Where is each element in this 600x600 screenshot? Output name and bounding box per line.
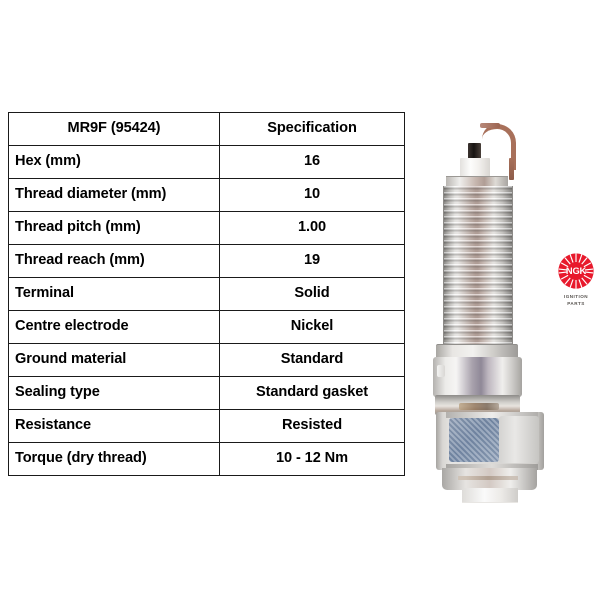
spec-value-thread-reach: 19 <box>220 245 405 278</box>
spec-value-terminal: Solid <box>220 278 405 311</box>
spark-plug-image <box>424 118 554 438</box>
specification-table: MR9F (95424) Specification Hex (mm) 16 T… <box>8 112 405 476</box>
spec-label-sealing-type: Sealing type <box>9 377 220 410</box>
hex-face-left-icon <box>449 418 499 462</box>
ngk-sunburst-logo-icon: NGK <box>558 253 594 289</box>
hex-face-right-icon <box>499 416 539 463</box>
spec-value-centre-electrode: Nickel <box>220 311 405 344</box>
spec-label-torque: Torque (dry thread) <box>9 443 220 476</box>
spec-label-thread-reach: Thread reach (mm) <box>9 245 220 278</box>
spec-label-terminal: Terminal <box>9 278 220 311</box>
spec-label-thread-pitch: Thread pitch (mm) <box>9 212 220 245</box>
svg-text:NGK: NGK <box>566 266 587 276</box>
table-row: Resistance Resisted <box>9 410 405 443</box>
spec-value-thread-diameter: 10 <box>220 179 405 212</box>
spec-table-container: MR9F (95424) Specification Hex (mm) 16 T… <box>8 112 404 476</box>
specification-header: Specification <box>220 113 405 146</box>
table-row: Torque (dry thread) 10 - 12 Nm <box>9 443 405 476</box>
threaded-shell-icon <box>443 186 513 346</box>
spec-label-hex: Hex (mm) <box>9 146 220 179</box>
part-code-header: MR9F (95424) <box>9 113 220 146</box>
shell-barrel-icon <box>433 357 522 397</box>
spec-label-resistance: Resistance <box>9 410 220 443</box>
ceramic-insulator-nose-icon <box>460 158 490 178</box>
spec-label-ground-material: Ground material <box>9 344 220 377</box>
table-header-row: MR9F (95424) Specification <box>9 113 405 146</box>
table-row: Hex (mm) 16 <box>9 146 405 179</box>
hex-nut-icon <box>436 412 544 470</box>
table-row: Thread reach (mm) 19 <box>9 245 405 278</box>
table-row: Centre electrode Nickel <box>9 311 405 344</box>
spec-value-hex: 16 <box>220 146 405 179</box>
table-row: Ground material Standard <box>9 344 405 377</box>
spec-value-sealing-type: Standard gasket <box>220 377 405 410</box>
spec-value-torque: 10 - 12 Nm <box>220 443 405 476</box>
ngk-tagline-line2: PARTS <box>556 301 596 308</box>
spec-value-ground-material: Standard <box>220 344 405 377</box>
ngk-tagline-line1: IGNITION <box>556 294 596 301</box>
table-row: Terminal Solid <box>9 278 405 311</box>
spec-value-resistance: Resisted <box>220 410 405 443</box>
shell-skirt-icon <box>442 468 537 490</box>
ngk-tagline: IGNITION PARTS <box>556 294 596 308</box>
table-row: Thread pitch (mm) 1.00 <box>9 212 405 245</box>
table-row: Sealing type Standard gasket <box>9 377 405 410</box>
ground-electrode-leg-icon <box>509 158 514 180</box>
ground-electrode-top-icon <box>480 123 500 128</box>
ngk-logo: NGK IGNITION PARTS <box>556 253 596 315</box>
spec-label-thread-diameter: Thread diameter (mm) <box>9 179 220 212</box>
spec-value-thread-pitch: 1.00 <box>220 212 405 245</box>
spec-label-centre-electrode: Centre electrode <box>9 311 220 344</box>
spec-table-body: MR9F (95424) Specification Hex (mm) 16 T… <box>9 113 405 476</box>
ceramic-body-icon <box>462 488 518 503</box>
table-row: Thread diameter (mm) 10 <box>9 179 405 212</box>
